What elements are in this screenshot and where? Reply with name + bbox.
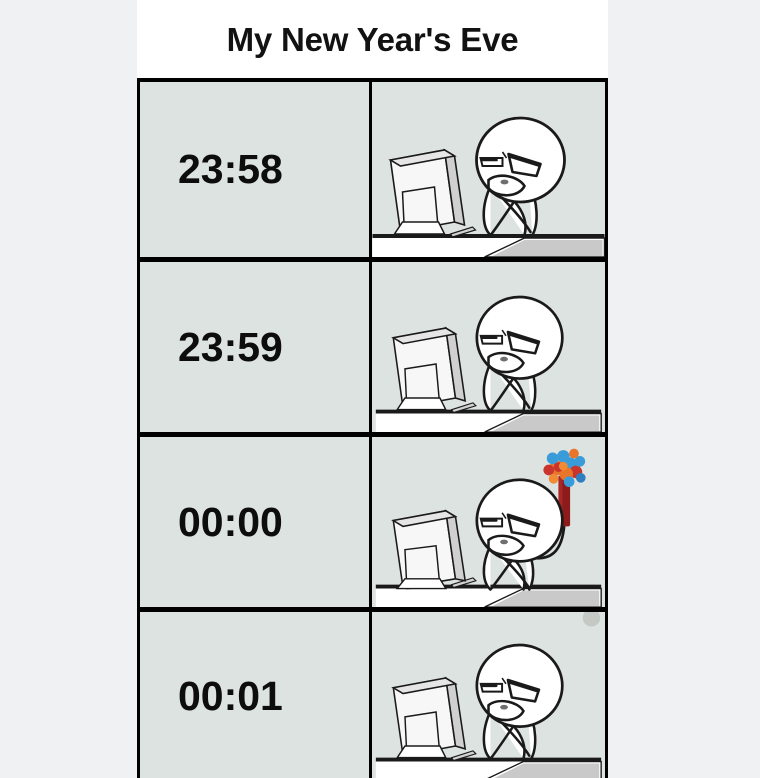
scene-person-at-computer-with-popper — [372, 437, 605, 607]
time-label-4: 00:01 — [178, 676, 283, 717]
monitor-icon — [393, 511, 465, 589]
time-cell-3: 00:00 — [137, 437, 372, 607]
monitor-icon — [391, 150, 465, 234]
person-head — [477, 297, 562, 379]
desk-icon — [376, 410, 601, 432]
monitor-icon — [393, 678, 465, 758]
scene-person-at-computer-2 — [372, 262, 605, 432]
scene-person-at-computer-1 — [372, 82, 605, 257]
page-title: My New Year's Eve — [227, 23, 519, 56]
person-head — [477, 645, 562, 727]
time-cell-4: 00:01 — [137, 612, 372, 778]
art-cell-1 — [372, 82, 608, 257]
comic-panel-row-3: 00:00 — [137, 432, 608, 607]
comic-header: My New Year's Eve — [137, 0, 608, 78]
time-label-3: 00:00 — [178, 502, 283, 543]
comic-panel-row-4: 00:01 — [137, 607, 608, 778]
meme-page: My New Year's Eve 23:58 — [0, 0, 760, 778]
comic-panel-row-1: 23:58 — [137, 82, 608, 257]
art-cell-3 — [372, 437, 608, 607]
time-cell-2: 23:59 — [137, 262, 372, 432]
comic-panel-grid: 23:58 — [137, 78, 608, 778]
art-cell-2 — [372, 262, 608, 432]
time-cell-1: 23:58 — [137, 82, 372, 257]
desk-icon — [376, 758, 601, 778]
time-label-1: 23:58 — [178, 149, 283, 190]
time-label-2: 23:59 — [178, 327, 283, 368]
person-head — [477, 118, 565, 202]
person-head — [477, 480, 562, 562]
comic-panel-row-2: 23:59 — [137, 257, 608, 432]
scene-person-at-computer-4 — [372, 612, 605, 778]
comic-strip: My New Year's Eve 23:58 — [137, 0, 608, 778]
art-cell-4 — [372, 612, 608, 778]
monitor-icon — [393, 328, 465, 410]
desk-icon — [373, 234, 605, 257]
